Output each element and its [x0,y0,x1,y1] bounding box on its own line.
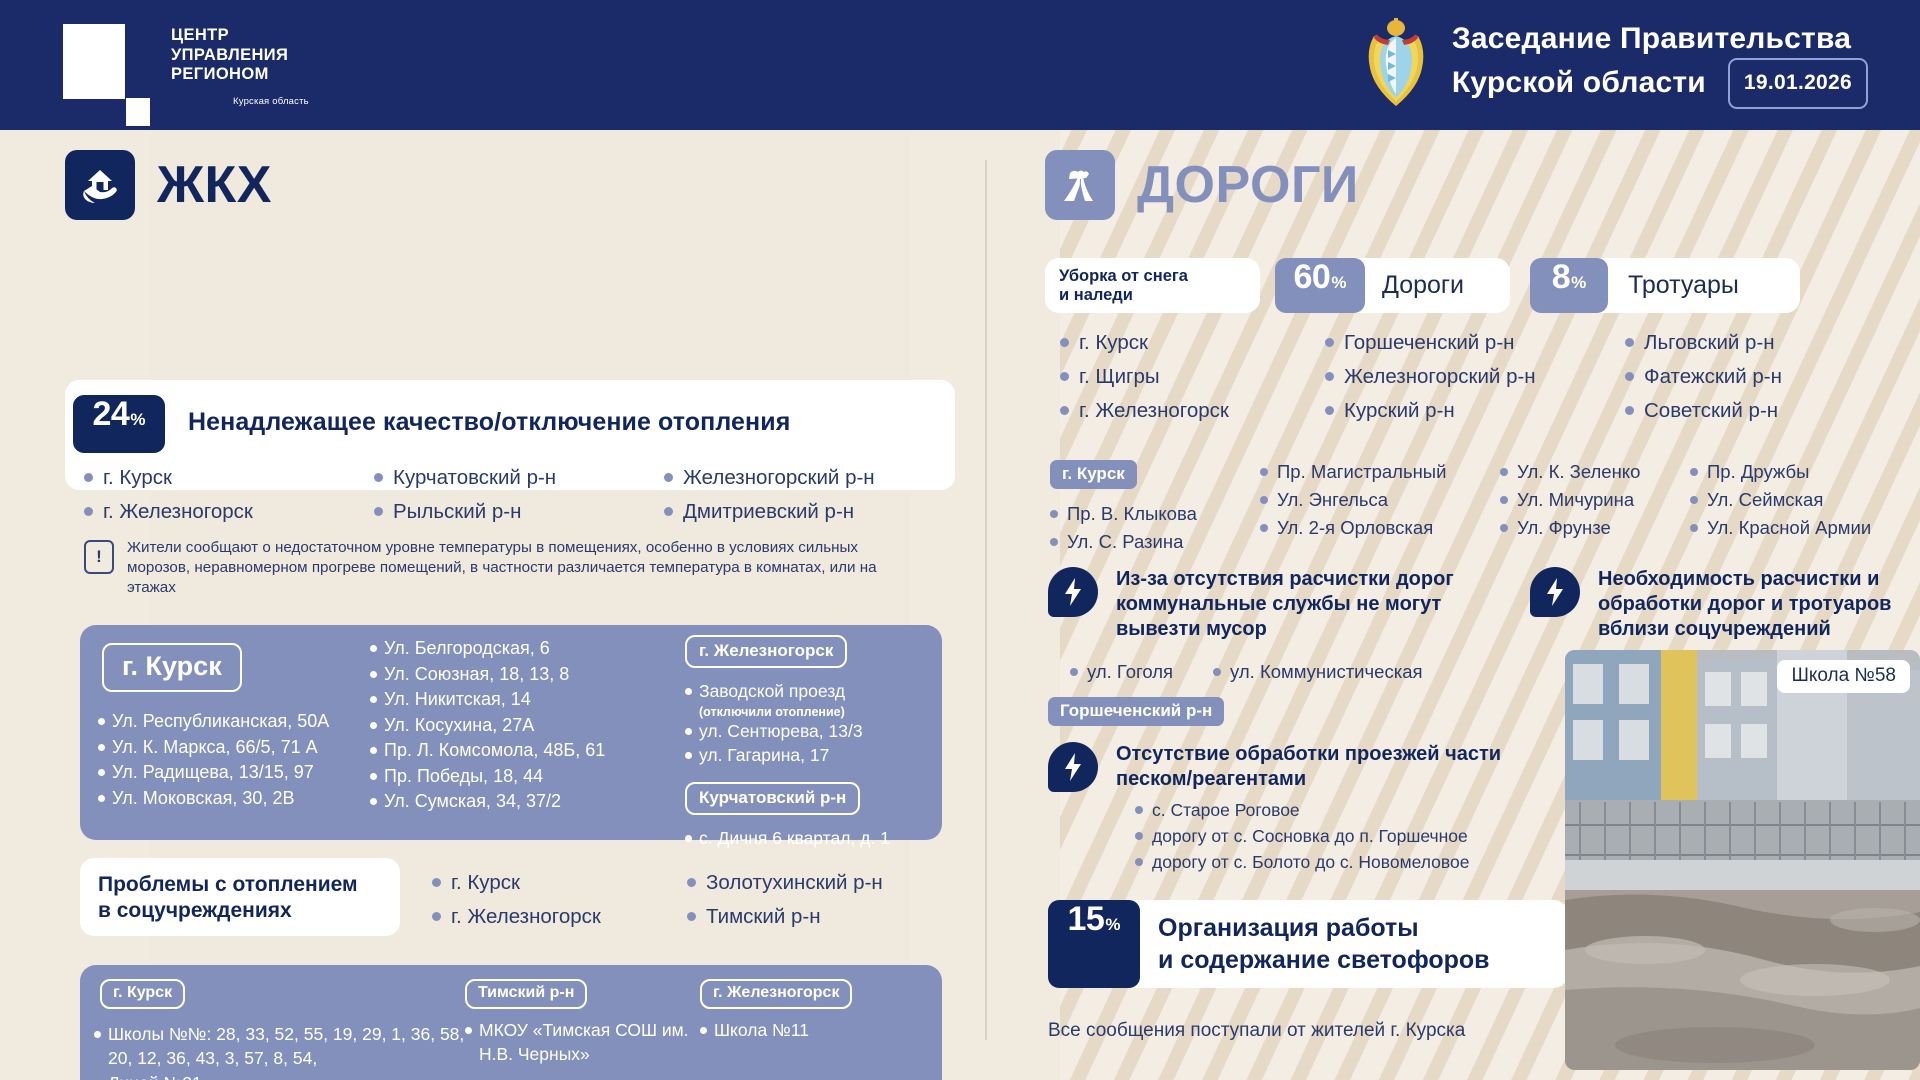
header-title-block: Заседание Правительства Курской области … [1360,16,1868,112]
streets-col-1: Пр. В. Клыкова Ул. С. Разина [1050,502,1250,554]
list-item-label: Железногорский р-н [1344,364,1536,389]
jkh-title: ЖКХ [157,155,272,215]
jkh-percent-value: 24 [93,395,130,434]
jkh-banner-title: Ненадлежащее качество/отключение отоплен… [188,408,790,437]
list-item: г. Курск [84,465,374,490]
kursk-tag-wrap: г. Курск [102,643,242,692]
list-item: дорогу от с. Сосновка до п. Горшечное [1135,824,1555,848]
kursk-chip-wrap: г. Курск [1050,460,1137,489]
jkh-note-text: Жители сообщают о недостаточном уровне т… [127,538,924,598]
bullet-dot [685,728,692,735]
list-item-label: г. Щигры [1079,364,1160,389]
list-item: ул. Гоголя [1070,660,1173,684]
streets-col-3: Ул. К. Зеленко Ул. Мичурина Ул. Фрунзе [1500,460,1690,540]
list-item: с. Дичня 6 квартал, д. 1 [685,827,935,851]
list-item: Ул. Сеймская [1690,488,1910,512]
road-icon [1045,150,1115,220]
list-item: Пр. Победы, 18, 44 [370,765,680,789]
bullet-dot [1325,372,1334,381]
bullet-dot [1050,510,1058,518]
bullet-dot [1135,858,1143,866]
list-item: г. Железногорск [84,499,374,524]
roads-callout-3-line-1: Отсутствие обработки проезжей части [1116,742,1506,767]
list-item: Ул. 2-я Орловская [1260,516,1490,540]
logo-subtitle: Курская область [233,96,309,107]
roads-callout-3-list: с. Старое Роговое дорогу от с. Сосновка … [1135,798,1555,874]
list-item: г. Железногорск [432,904,687,929]
list-item-label: Пр. В. Клыкова [1067,502,1197,526]
list-item-label: Заводской проезд [699,680,845,704]
list-item-label: дорогу от с. Сосновка до п. Горшечное [1152,824,1468,848]
roads-footnote: Все сообщения поступали от жителей г. Ку… [1048,1020,1465,1042]
bullet-dot [1060,372,1069,381]
list-item-label: Ул. Белгородская, 6 [384,637,550,661]
list-item-label: с. Старое Роговое [1152,798,1300,822]
list-item-label: г. Железногорск [103,499,253,524]
streets-col-4: Пр. Дружбы Ул. Сеймская Ул. Красной Арми… [1690,460,1910,540]
list-item: Ул. Никитская, 14 [370,688,680,712]
bullet-dot [84,507,93,516]
header-title-line-2: Курской области [1452,64,1706,102]
list-item-label: г. Железногорск [1079,398,1229,423]
list-item: Дмитриевский р-н [664,499,964,524]
roads-percent-sign: % [1331,273,1346,293]
list-item: Железногорский р-н [664,465,964,490]
list-item: г. Железногорск [1060,398,1325,423]
photo-label: Школа №58 [1777,660,1910,693]
bullet-dot [98,795,105,802]
bullet-dot [685,752,692,759]
roads-callout-3: Отсутствие обработки проезжей части песк… [1048,742,1518,792]
bullet-dot [1213,668,1221,676]
bullet-dot [1690,468,1698,476]
list-item: ул. Гагарина, 17 [685,744,935,768]
list-item: Ул. Республиканская, 50А [98,710,388,734]
roads-column: ДОРОГИ Уборка от снега и наледи 60 % Дор… [1010,130,1920,1080]
roads-percent-badge: 60 % [1275,258,1365,313]
list-item-label: Льговский р-н [1644,330,1775,355]
list-item-label: Школы №№: 28, 33, 52, 55, 19, 29, 1, 36,… [108,1023,469,1070]
school-58-photo: Школа №58 [1565,650,1920,1070]
bullet-dot [1135,806,1143,814]
lightning-bolt-icon [1048,742,1098,792]
bullet-dot [664,507,673,516]
page-header: ЦЕНТР УПРАВЛЕНИЯ РЕГИОНОМ Курская област… [0,0,1920,130]
list-item: Тимский р-н [687,904,947,929]
list-item: Курчатовский р-н [374,465,664,490]
list-item: Льговский р-н [1625,330,1915,355]
traffic-banner-title: Организация работы и содержание светофор… [1158,912,1490,976]
list-item: Ул. Сумская, 34, 37/2 [370,790,680,814]
list-item-label: Пр. Победы, 18, 44 [384,765,543,789]
bullet-dot [685,688,692,695]
bullet-dot [374,507,383,516]
column-divider [985,160,987,1040]
list-item: ул. Сентюрева, 13/3 [685,720,935,744]
list-item-label: МКОУ «Тимская СОШ им. Н.В. Черных» [479,1019,710,1066]
list-item: Ул. Энгельса [1260,488,1490,512]
jkh-note: ! Жители сообщают о недостаточном уровне… [84,538,924,598]
list-item: г. Курск [432,870,687,895]
header-title-line-1: Заседание Правительства [1452,20,1868,58]
list-item-label: Ул. К. Зеленко [1517,460,1640,484]
bullet-dot [1070,668,1078,676]
list-item-label: г. Курск [103,465,172,490]
bullet-dot [98,744,105,751]
list-item: Золотухинский р-н [687,870,947,895]
bullet-dot [432,878,441,887]
jkh-section-header: ЖКХ [65,150,272,220]
bullet-dot [1260,524,1268,532]
zhelezногorsk-group: г. Железногорск Заводской проезд (отключ… [685,635,935,850]
list-item-label: Ул. Сумская, 34, 37/2 [384,790,561,814]
bullet-dot [370,671,377,678]
list-item-label: ул. Гагарина, 17 [699,744,829,768]
roads-title: ДОРОГИ [1137,155,1359,215]
list-item: Ул. Радищева, 13/15, 97 [98,761,388,785]
list-item: МКОУ «Тимская СОШ им. Н.В. Черных» [465,1019,710,1066]
bullet-dot [94,1031,101,1038]
kursk-coat-of-arms-icon [1360,16,1432,112]
soc-kursk-tag-wrap: г. Курск [100,979,185,1009]
bullet-dot [1060,406,1069,415]
list-item-label: Горшеченский р-н [1344,330,1514,355]
streets-col-2: Пр. Магистральный Ул. Энгельса Ул. 2-я О… [1260,460,1490,540]
list-item-label: Советский р-н [1644,398,1778,423]
list-item-label: Ул. Союзная, 18, 13, 8 [384,663,569,687]
roads-callout-2-text: Необходимость расчистки и обработки доро… [1598,567,1920,642]
list-item: Ул. К. Маркса, 66/5, 71 А [98,736,388,760]
list-item-label: Лицей №21 [108,1072,202,1080]
header-titles: Заседание Правительства Курской области … [1452,20,1868,109]
bullet-dot [1260,496,1268,504]
list-item: г. Курск [1060,330,1325,355]
roads-callout-1: Из-за отсутствия расчистки дорог коммуна… [1048,567,1498,642]
bullet-dot [370,722,377,729]
list-item-label: г. Курск [1079,330,1148,355]
tag-kursk: г. Курск [102,643,242,692]
snow-label-line-1: Уборка от снега [1059,267,1260,286]
roads-callout-3-line-2: песком/реагентами [1116,767,1506,792]
list-item: Ул. Фрунзе [1500,516,1690,540]
list-item-label: Ул. Республиканская, 50А [112,710,329,734]
traffic-percent-value: 15 [1068,900,1105,939]
list-item-label: Ул. 2-я Орловская [1277,516,1433,540]
snow-label-card: Уборка от снега и наледи [1045,258,1260,313]
list-item-label: Ул. Косухина, 27А [384,714,534,738]
bullet-dot [370,773,377,780]
bullet-dot [1135,832,1143,840]
list-item-label: Тимский р-н [706,904,821,929]
roads-callout-1-list: ул. Гоголя ул. Коммунистическая [1070,660,1423,684]
sidewalks-percent-badge: 8 % [1530,258,1608,313]
list-item-label: Ул. Красной Армии [1707,516,1871,540]
bullet-dot [1500,524,1508,532]
list-item-label: дорогу от с. Болото до с. Новомеловое [1152,850,1469,874]
bullet-dot [1050,538,1058,546]
roads-callout-3-title: Отсутствие обработки проезжей части песк… [1116,742,1506,792]
logo-text: ЦЕНТР УПРАВЛЕНИЯ РЕГИОНОМ [171,26,288,85]
list-item-label: Школа №11 [714,1019,809,1043]
bullet-dot [374,473,383,482]
list-item: ул. Коммунистическая [1213,660,1422,684]
list-item: Рыльский р-н [374,499,664,524]
list-item: Советский р-н [1625,398,1915,423]
bullet-dot [685,835,692,842]
bullet-dot [432,912,441,921]
bullet-dot [687,878,696,887]
traffic-percent-sign: % [1105,915,1120,935]
sidewalks-percent-sign: % [1571,273,1586,293]
list-item: г. Щигры [1060,364,1325,389]
list-item-label: Золотухинский р-н [706,870,883,895]
roads-locations-list: г. Курск Горшеченский р-н Льговский р-н … [1060,330,1920,423]
list-item: Ул. Союзная, 18, 13, 8 [370,663,680,687]
lightning-bolt-icon [1530,567,1580,617]
list-item: с. Старое Роговое [1135,798,1555,822]
infographic-page: ЦЕНТР УПРАВЛЕНИЯ РЕГИОНОМ Курская област… [0,0,1920,1080]
list-item: Пр. В. Клыкова [1050,502,1250,526]
lightning-bolt-icon [1048,567,1098,617]
gorshechensky-chip-wrap: Горшеченский р-н [1048,697,1224,726]
list-item-label: Ул. Мичурина [1517,488,1634,512]
bullet-dot [98,769,105,776]
list-item-label: Ул. Сеймская [1707,488,1823,512]
bullet-dot [1500,496,1508,504]
bullet-dot [370,696,377,703]
list-item: Горшеченский р-н [1325,330,1625,355]
list-item: Ул. К. Зеленко [1500,460,1690,484]
jkh-percent-sign: % [130,410,145,430]
soc-locations-list: г. Курск Золотухинский р-н г. Железногор… [432,870,952,929]
list-item: Лицей №21 [94,1072,469,1080]
tag-kursk-soc: г. Курск [100,979,185,1009]
list-item-label: ул. Сентюрева, 13/3 [699,720,863,744]
tag-timsky: Тимский р-н [465,979,587,1009]
list-item: Ул. Моковская, 30, 2В [98,787,388,811]
bullet-dot [98,718,105,725]
list-item: Ул. Мичурина [1500,488,1690,512]
traffic-title-line-1: Организация работы [1158,912,1490,944]
roads-pct-label: Дороги [1382,271,1464,300]
list-item-label: Пр. Магистральный [1277,460,1446,484]
jkh-locations-list: г. Курск Курчатовский р-н Железногорский… [84,465,964,524]
logo-line-2: УПРАВЛЕНИЯ [171,46,288,66]
roads-section-header: ДОРОГИ [1045,150,1359,220]
snow-label-line-2: и наледи [1059,286,1260,305]
list-item-label: Ул. Никитская, 14 [384,688,531,712]
jkh-percent-badge: 24 % [73,395,165,453]
bullet-dot [1325,406,1334,415]
list-item: Ул. Красной Армии [1690,516,1910,540]
soc-title-line-2: в соцучреждениях [98,898,400,924]
logo-line-3: РЕГИОНОМ [171,65,288,85]
kursk-address-col-2: Ул. Белгородская, 6 Ул. Союзная, 18, 13,… [370,637,680,814]
list-item-label: Пр. Дружбы [1707,460,1809,484]
list-item-label: Ул. Энгельса [1277,488,1388,512]
list-item-label: Дмитриевский р-н [683,499,854,524]
bullet-dot [370,747,377,754]
bullet-dot [370,798,377,805]
tag-kurchatovsky: Курчатовский р-н [685,782,860,815]
roads-percent-value: 60 [1294,258,1331,297]
list-item-label: Ул. Радищева, 13/15, 97 [112,761,314,785]
house-in-hand-icon [65,150,135,220]
chip-kursk: г. Курск [1050,460,1137,489]
list-item: дорогу от с. Болото до с. Новомеловое [1135,850,1555,874]
traffic-percent-badge: 15 % [1048,900,1140,988]
list-item-label: Ул. Моковская, 30, 2В [112,787,294,811]
jkh-column: ЖКХ 24 % Ненадлежащее качество/отключени… [0,130,985,1080]
list-item-label: Ул. Фрунзе [1517,516,1611,540]
soc-title-card: Проблемы с отоплением в соцучреждениях [80,858,400,936]
roads-callout-2: Необходимость расчистки и обработки доро… [1530,567,1920,642]
list-item: Школа №11 [700,1019,935,1043]
list-item-label: Курский р-н [1344,398,1455,423]
bullet-dot [687,912,696,921]
list-item-label: с. Дичня 6 квартал, д. 1 [699,827,890,851]
tag-zheleznogorsk: г. Железногорск [685,635,847,668]
meeting-date-badge: 19.01.2026 [1728,58,1868,109]
bullet-dot [1690,524,1698,532]
soc-title-line-1: Проблемы с отоплением [98,872,400,898]
list-item-label: г. Железногорск [451,904,601,929]
bullet-dot [664,473,673,482]
list-item: Ул. Белгородская, 6 [370,637,680,661]
list-item: Железногорский р-н [1325,364,1625,389]
bullet-dot [1060,338,1069,347]
bullet-dot [1325,338,1334,347]
list-item: Фатежский р-н [1625,364,1915,389]
traffic-title-line-2: и содержание светофоров [1158,944,1490,976]
list-item-label: Ул. С. Разина [1067,530,1183,554]
tag-zheleznogorsk-soc: г. Железногорск [700,979,852,1009]
bullet-dot [1260,468,1268,476]
soc-kursk-list: Школы №№: 28, 33, 52, 55, 19, 29, 1, 36,… [94,1023,469,1080]
list-item: Ул. С. Разина [1050,530,1250,554]
list-item: Курский р-н [1325,398,1625,423]
soc-facilities-box: г. Курск Школы №№: 28, 33, 52, 55, 19, 2… [80,965,942,1080]
list-item-label: ул. Коммунистическая [1230,660,1422,684]
sidewalks-pct-label: Тротуары [1628,271,1739,300]
list-item-label: Железногорский р-н [683,465,875,490]
bullet-dot [370,645,377,652]
list-item-label: Фатежский р-н [1644,364,1782,389]
list-item: Заводской проезд [685,680,935,704]
bullet-dot [1625,406,1634,415]
bullet-dot [700,1027,707,1034]
list-item: Ул. Косухина, 27А [370,714,680,738]
logo-line-1: ЦЕНТР [171,26,288,46]
kursk-address-col-1: Ул. Республиканская, 50А Ул. К. Маркса, … [98,710,388,810]
soc-tim-group: Тимский р-н МКОУ «Тимская СОШ им. Н.В. Ч… [465,979,710,1080]
list-item-label: Пр. Л. Комсомола, 48Б, 61 [384,739,605,763]
roads-callout-1-text: Из-за отсутствия расчистки дорог коммуна… [1116,567,1486,642]
bullet-dot [465,1027,472,1034]
exclamation-icon: ! [84,540,114,574]
sidewalks-percent-value: 8 [1552,258,1570,297]
bullet-dot [84,473,93,482]
list-item-label: ул. Гоголя [1087,660,1173,684]
soc-zhel-group: г. Железногорск Школа №11 [700,979,935,1043]
chip-gorshechensky: Горшеченский р-н [1048,697,1224,726]
list-item-label: Курчатовский р-н [393,465,556,490]
jkh-address-box: г. Курск Ул. Республиканская, 50А Ул. К.… [80,625,942,840]
bullet-dot [1625,372,1634,381]
list-item: Пр. Дружбы [1690,460,1910,484]
bullet-dot [1625,338,1634,347]
list-item-label: Рыльский р-н [393,499,521,524]
list-item: Школы №№: 28, 33, 52, 55, 19, 29, 1, 36,… [94,1023,469,1070]
cur-logo: ЦЕНТР УПРАВЛЕНИЯ РЕГИОНОМ Курская област… [63,18,383,118]
list-item-label: Ул. К. Маркса, 66/5, 71 А [112,736,318,760]
list-item-label: г. Курск [451,870,520,895]
bullet-dot [1690,496,1698,504]
list-item: Пр. Л. Комсомола, 48Б, 61 [370,739,680,763]
zavodskoy-subnote: (отключили отопление) [699,705,935,719]
list-item: Пр. Магистральный [1260,460,1490,484]
bullet-dot [1500,468,1508,476]
